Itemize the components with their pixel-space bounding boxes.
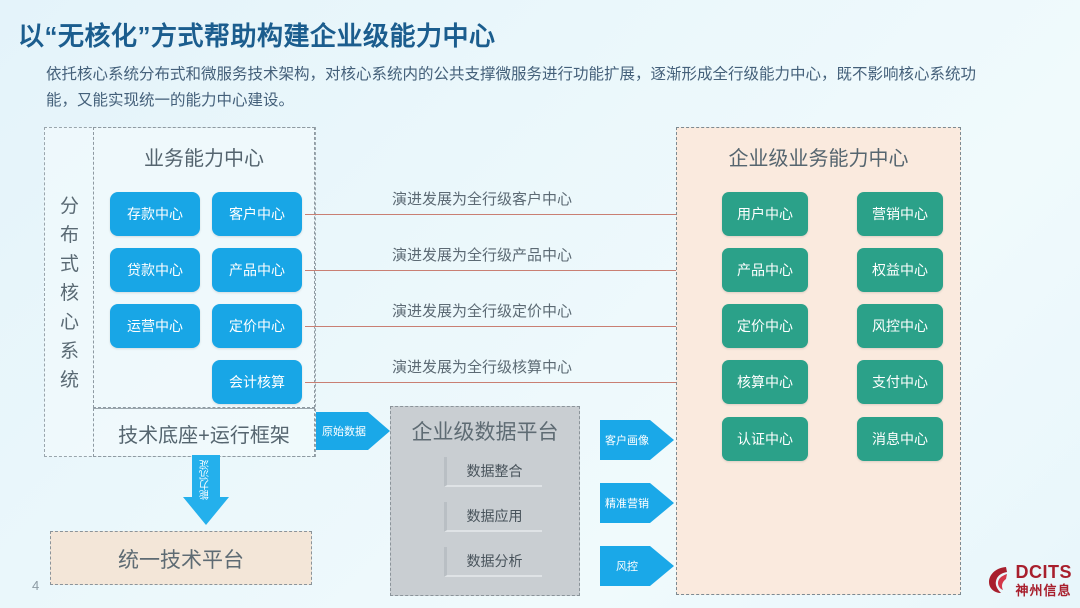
connector-label-pricing: 演进发展为全行级定价中心 [392, 300, 572, 321]
capability-box-label: 定价中心 [229, 316, 285, 336]
enterprise-box-product[interactable]: 产品中心 [722, 248, 808, 292]
unified-tech-platform-label: 统一技术平台 [50, 544, 312, 574]
enterprise-box-label: 消息中心 [872, 429, 928, 449]
arrow-capability-sink: 能力沉淀 [183, 455, 229, 525]
data-platform-item-analysis[interactable]: 数据分析 [444, 547, 542, 577]
capability-box-label: 运营中心 [127, 316, 183, 336]
capability-box-operations[interactable]: 运营中心 [110, 304, 200, 348]
business-capability-center-title: 业务能力中心 [93, 142, 315, 171]
enterprise-box-label: 产品中心 [737, 260, 793, 280]
capability-box-label: 产品中心 [229, 260, 285, 280]
enterprise-box-label: 权益中心 [872, 260, 928, 280]
arrow-label: 能力沉淀 [183, 459, 229, 501]
page-title: 以“无核化”方式帮助构建企业级能力中心 [18, 16, 718, 53]
capability-box-label: 客户中心 [229, 204, 285, 224]
arrow-label: 精准营销 [600, 483, 654, 523]
capability-box-accounting[interactable]: 会计核算 [212, 360, 302, 404]
capability-box-label: 会计核算 [229, 372, 285, 392]
capability-box-label: 贷款中心 [127, 260, 183, 280]
arrow-label: 原始数据 [316, 412, 372, 450]
vertical-char: 布 [48, 221, 92, 250]
data-platform-title: 企业级数据平台 [390, 416, 580, 446]
arrow-raw-data: 原始数据 [316, 412, 390, 450]
logo-text: DCITS 神州信息 [1016, 563, 1073, 597]
distributed-core-system-label: 分 布 式 核 心 系 统 [48, 192, 92, 395]
enterprise-box-marketing[interactable]: 营销中心 [857, 192, 943, 236]
connector-line-product [305, 270, 715, 271]
capability-box-pricing[interactable]: 定价中心 [212, 304, 302, 348]
page-number: 4 [32, 578, 39, 593]
page-description: 依托核心系统分布式和微服务技术架构，对核心系统内的公共支撑微服务进行功能扩展，逐… [46, 62, 1006, 114]
logo-name-en: DCITS [1016, 563, 1073, 581]
arrow-label: 风控 [600, 546, 654, 586]
enterprise-box-label: 核算中心 [737, 372, 793, 392]
connector-label-product: 演进发展为全行级产品中心 [392, 244, 572, 265]
slide-canvas: 以“无核化”方式帮助构建企业级能力中心 依托核心系统分布式和微服务技术架构，对核… [0, 0, 1080, 608]
company-logo: DCITS 神州信息 [986, 560, 1073, 600]
vertical-char: 式 [48, 250, 92, 279]
arrow-head [183, 497, 229, 525]
arrow-label: 客户画像 [600, 420, 654, 460]
enterprise-box-label: 认证中心 [737, 429, 793, 449]
dcits-mark-icon [986, 565, 1012, 595]
connector-label-customer: 演进发展为全行级客户中心 [392, 188, 572, 209]
connector-line-accounting [305, 382, 715, 383]
connector-label-accounting: 演进发展为全行级核算中心 [392, 356, 572, 377]
enterprise-box-accounting[interactable]: 核算中心 [722, 360, 808, 404]
data-platform-item-application[interactable]: 数据应用 [444, 502, 542, 532]
capability-box-label: 存款中心 [127, 204, 183, 224]
arrow-precision-marketing: 精准营销 [600, 483, 674, 523]
logo-name-cn: 神州信息 [1016, 584, 1073, 597]
connector-line-customer [305, 214, 715, 215]
vertical-char: 核 [48, 279, 92, 308]
capability-box-customer[interactable]: 客户中心 [212, 192, 302, 236]
enterprise-box-label: 用户中心 [737, 204, 793, 224]
enterprise-box-pricing[interactable]: 定价中心 [722, 304, 808, 348]
capability-box-loan[interactable]: 贷款中心 [110, 248, 200, 292]
vertical-char: 系 [48, 337, 92, 366]
tech-foundation-label: 技术底座+运行框架 [93, 419, 315, 448]
vertical-char: 心 [48, 308, 92, 337]
enterprise-box-payment[interactable]: 支付中心 [857, 360, 943, 404]
enterprise-box-auth[interactable]: 认证中心 [722, 417, 808, 461]
enterprise-box-label: 营销中心 [872, 204, 928, 224]
enterprise-capability-center-title: 企业级业务能力中心 [676, 142, 961, 171]
capability-box-deposit[interactable]: 存款中心 [110, 192, 200, 236]
connector-line-pricing [305, 326, 715, 327]
vertical-char: 统 [48, 366, 92, 395]
capability-box-product[interactable]: 产品中心 [212, 248, 302, 292]
enterprise-box-riskcontrol[interactable]: 风控中心 [857, 304, 943, 348]
data-platform-item-label: 数据整合 [467, 461, 523, 481]
enterprise-box-user[interactable]: 用户中心 [722, 192, 808, 236]
data-platform-item-label: 数据应用 [467, 506, 523, 526]
vertical-char: 分 [48, 192, 92, 221]
data-platform-item-label: 数据分析 [467, 551, 523, 571]
arrow-risk-control: 风控 [600, 546, 674, 586]
enterprise-box-label: 支付中心 [872, 372, 928, 392]
enterprise-box-message[interactable]: 消息中心 [857, 417, 943, 461]
enterprise-box-benefits[interactable]: 权益中心 [857, 248, 943, 292]
arrow-customer-profile: 客户画像 [600, 420, 674, 460]
enterprise-box-label: 风控中心 [872, 316, 928, 336]
data-platform-item-integration[interactable]: 数据整合 [444, 457, 542, 487]
enterprise-box-label: 定价中心 [737, 316, 793, 336]
